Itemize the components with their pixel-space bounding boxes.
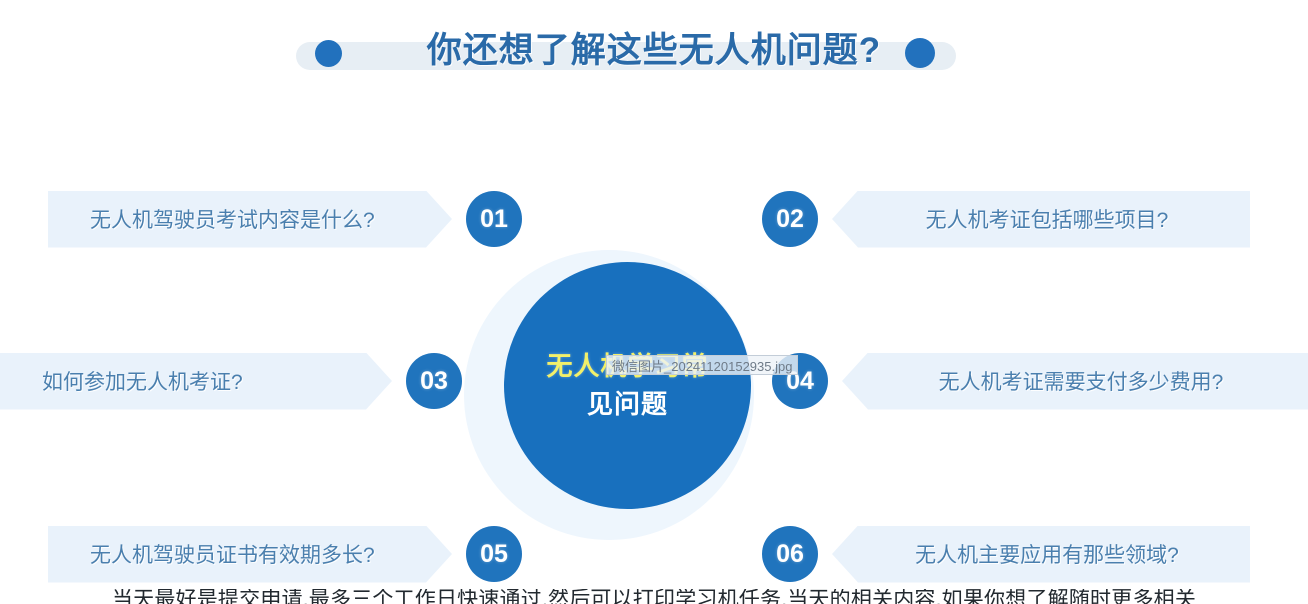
question-item-03[interactable]: 如何参加无人机考证? 03 bbox=[0, 349, 462, 413]
page-bottom-text-clipped: 当天最好是提交申请,最多三个工作日快速通过,然后可以打印学习机任务,当天的相关内… bbox=[0, 589, 1308, 604]
question-item-02[interactable]: 02 无人机考证包括哪些项目? bbox=[762, 187, 1250, 251]
question-badge-06: 06 bbox=[762, 526, 818, 582]
image-filename-tooltip: 微信图片_20241120152935.jpg bbox=[606, 355, 798, 375]
question-row-1: 无人机驾驶员考试内容是什么? 01 02 无人机考证包括哪些项目? bbox=[0, 187, 1308, 251]
question-label-05: 无人机驾驶员证书有效期多长? bbox=[48, 526, 452, 583]
question-label-03: 如何参加无人机考证? bbox=[0, 353, 392, 410]
question-badge-01: 01 bbox=[466, 191, 522, 247]
question-badge-05: 05 bbox=[466, 526, 522, 582]
question-item-01[interactable]: 无人机驾驶员考试内容是什么? 01 bbox=[48, 187, 522, 251]
question-item-04[interactable]: 04 无人机考证需要支付多少费用? bbox=[772, 349, 1308, 413]
bottom-text-line: 当天最好是提交申请,最多三个工作日快速通过,然后可以打印学习机任务,当天的相关内… bbox=[112, 589, 1196, 604]
page-title: 你还想了解这些无人机问题? bbox=[0, 22, 1308, 73]
question-label-06: 无人机主要应用有那些领域? bbox=[832, 526, 1250, 583]
question-item-05[interactable]: 无人机驾驶员证书有效期多长? 05 bbox=[48, 522, 522, 586]
question-row-3: 无人机驾驶员证书有效期多长? 05 06 无人机主要应用有那些领域? bbox=[0, 522, 1308, 586]
infographic-page: 你还想了解这些无人机问题? 无人机学习常 见问题 无人机驾驶员考试内容是什么? … bbox=[0, 0, 1308, 604]
question-item-06[interactable]: 06 无人机主要应用有那些领域? bbox=[762, 522, 1250, 586]
question-label-01: 无人机驾驶员考试内容是什么? bbox=[48, 191, 452, 248]
page-header: 你还想了解这些无人机问题? bbox=[0, 0, 1308, 95]
question-badge-02: 02 bbox=[762, 191, 818, 247]
question-label-02: 无人机考证包括哪些项目? bbox=[832, 191, 1250, 248]
question-label-04: 无人机考证需要支付多少费用? bbox=[842, 353, 1308, 410]
question-badge-03: 03 bbox=[406, 353, 462, 409]
